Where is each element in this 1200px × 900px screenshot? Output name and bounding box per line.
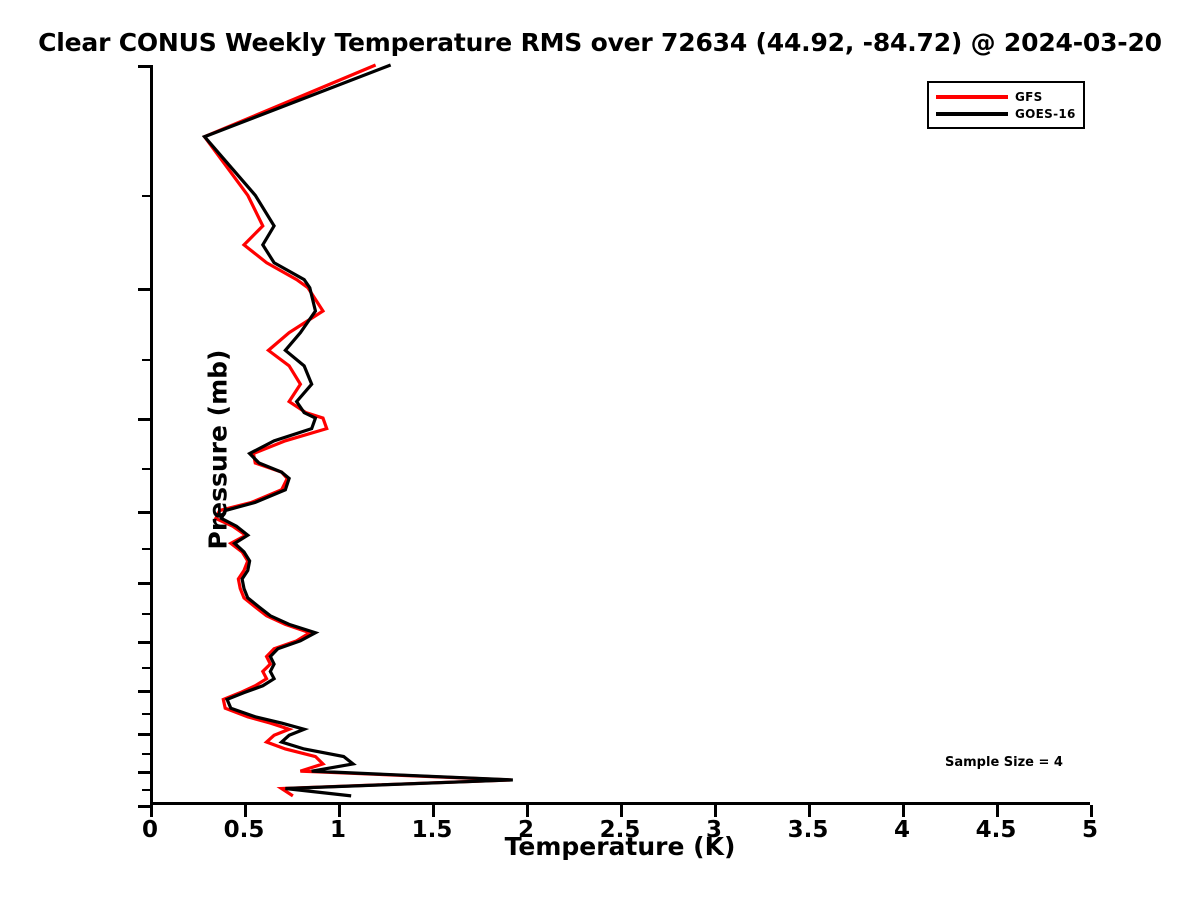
legend-label: GOES-16 (1015, 107, 1076, 121)
x-tick (808, 805, 811, 817)
y-tick (138, 65, 150, 68)
y-tick-minor (142, 713, 150, 715)
y-tick (138, 805, 150, 808)
sample-size-annotation: Sample Size = 4 (945, 755, 1063, 770)
x-tick (620, 805, 623, 817)
x-tick (1090, 805, 1093, 817)
chart-title: Clear CONUS Weekly Temperature RMS over … (0, 28, 1200, 57)
y-tick-minor (142, 667, 150, 669)
x-tick (996, 805, 999, 817)
y-tick-minor (142, 548, 150, 550)
plot-area: 102200300400500600700800900103 00.511.52… (150, 65, 1090, 805)
y-tick (138, 582, 150, 585)
y-tick (138, 418, 150, 421)
legend-swatch-gfs (936, 95, 1008, 99)
x-tick (902, 805, 905, 817)
y-tick (138, 641, 150, 644)
y-tick (138, 733, 150, 736)
y-tick-minor (142, 359, 150, 361)
y-tick (138, 288, 150, 291)
x-axis-title: Temperature (K) (150, 832, 1090, 861)
x-tick (526, 805, 529, 817)
x-tick (432, 805, 435, 817)
y-tick (138, 690, 150, 693)
series-line-gfs (205, 65, 511, 796)
data-curves (150, 65, 1090, 805)
x-tick (150, 805, 153, 817)
legend-label: GFS (1015, 90, 1043, 104)
x-tick (714, 805, 717, 817)
legend-item: GOES-16 (936, 105, 1076, 122)
y-tick-minor (142, 613, 150, 615)
y-tick-minor (142, 753, 150, 755)
legend-swatch-goes16 (936, 112, 1008, 116)
y-axis-title: Pressure (mb) (204, 80, 233, 820)
chart-root: Clear CONUS Weekly Temperature RMS over … (0, 0, 1200, 900)
y-tick-minor (142, 468, 150, 470)
y-tick (138, 771, 150, 774)
y-tick-minor (142, 789, 150, 791)
x-tick (338, 805, 341, 817)
y-tick (138, 511, 150, 514)
legend: GFS GOES-16 (927, 81, 1085, 129)
legend-item: GFS (936, 88, 1076, 105)
x-tick (244, 805, 247, 817)
y-tick-minor (142, 195, 150, 197)
